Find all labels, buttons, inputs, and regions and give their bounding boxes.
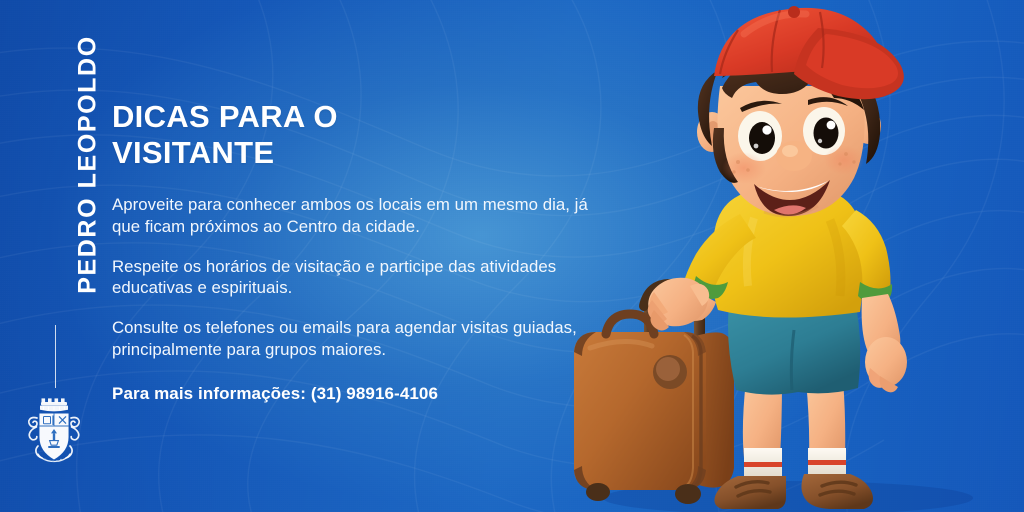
- suitcase-wheel-right: [675, 484, 701, 504]
- boy-traveler-illustration: [568, 0, 1024, 512]
- tip-paragraph-1: Aproveite para conhecer ambos os locais …: [112, 194, 592, 238]
- tip-paragraph-3: Consulte os telefones ou emails para age…: [112, 317, 592, 361]
- left-brand-rail: PEDRO LEOPOLDO: [0, 0, 104, 512]
- contact-info: Para mais informações: (31) 98916-4106: [112, 384, 604, 404]
- suitcase-wheel-left: [586, 483, 610, 501]
- tip-paragraph-2: Respeite os horários de visitação e part…: [112, 256, 592, 300]
- page-title: DICAS PARA O VISITANTE: [112, 99, 604, 171]
- vertical-city-title: PEDRO LEOPOLDO: [74, 15, 103, 315]
- coat-of-arms-icon: [18, 396, 90, 472]
- rail-divider: [55, 325, 56, 388]
- promotional-banner: PEDRO LEOPOLDO: [0, 0, 1024, 512]
- content-column: DICAS PARA O VISITANTE Aproveite para co…: [112, 99, 604, 404]
- cap-button: [788, 6, 800, 18]
